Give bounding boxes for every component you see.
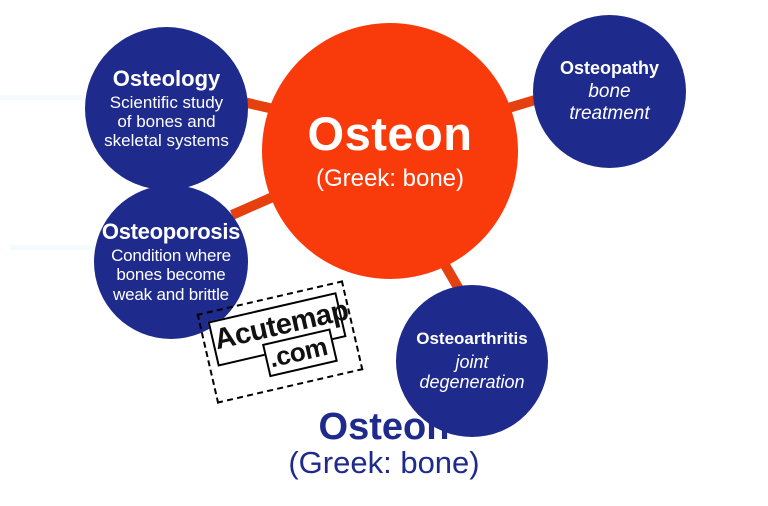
center-subtitle: (Greek: bone)	[316, 166, 464, 192]
osteopathy-title: Osteopathy	[560, 59, 659, 79]
caption-subtitle: (Greek: bone)	[0, 446, 768, 480]
node-osteopathy[interactable]: Osteopathy bone treatment	[533, 15, 686, 168]
osteoporosis-description: Condition where bones become weak and br…	[111, 246, 231, 304]
node-osteon-center[interactable]: Osteon (Greek: bone)	[262, 23, 518, 279]
osteoarthritis-title: Osteoarthritis	[416, 330, 527, 349]
osteoporosis-title: Osteoporosis	[102, 220, 240, 244]
node-osteology[interactable]: Osteology Scientific study of bones and …	[85, 27, 248, 190]
osteoarthritis-description: joint degeneration	[419, 352, 524, 393]
center-title: Osteon	[308, 109, 473, 158]
caption-title: Osteon	[0, 408, 768, 448]
osteopathy-description: bone treatment	[569, 81, 649, 124]
diagram-caption: Osteon (Greek: bone)	[0, 408, 768, 480]
connector-osteon-osteoporosis	[232, 196, 275, 215]
diagram-canvas: Osteon (Greek: bone) Osteology Scientifi…	[0, 0, 768, 506]
osteology-description: Scientific study of bones and skeletal s…	[104, 93, 229, 151]
osteology-title: Osteology	[113, 67, 221, 91]
